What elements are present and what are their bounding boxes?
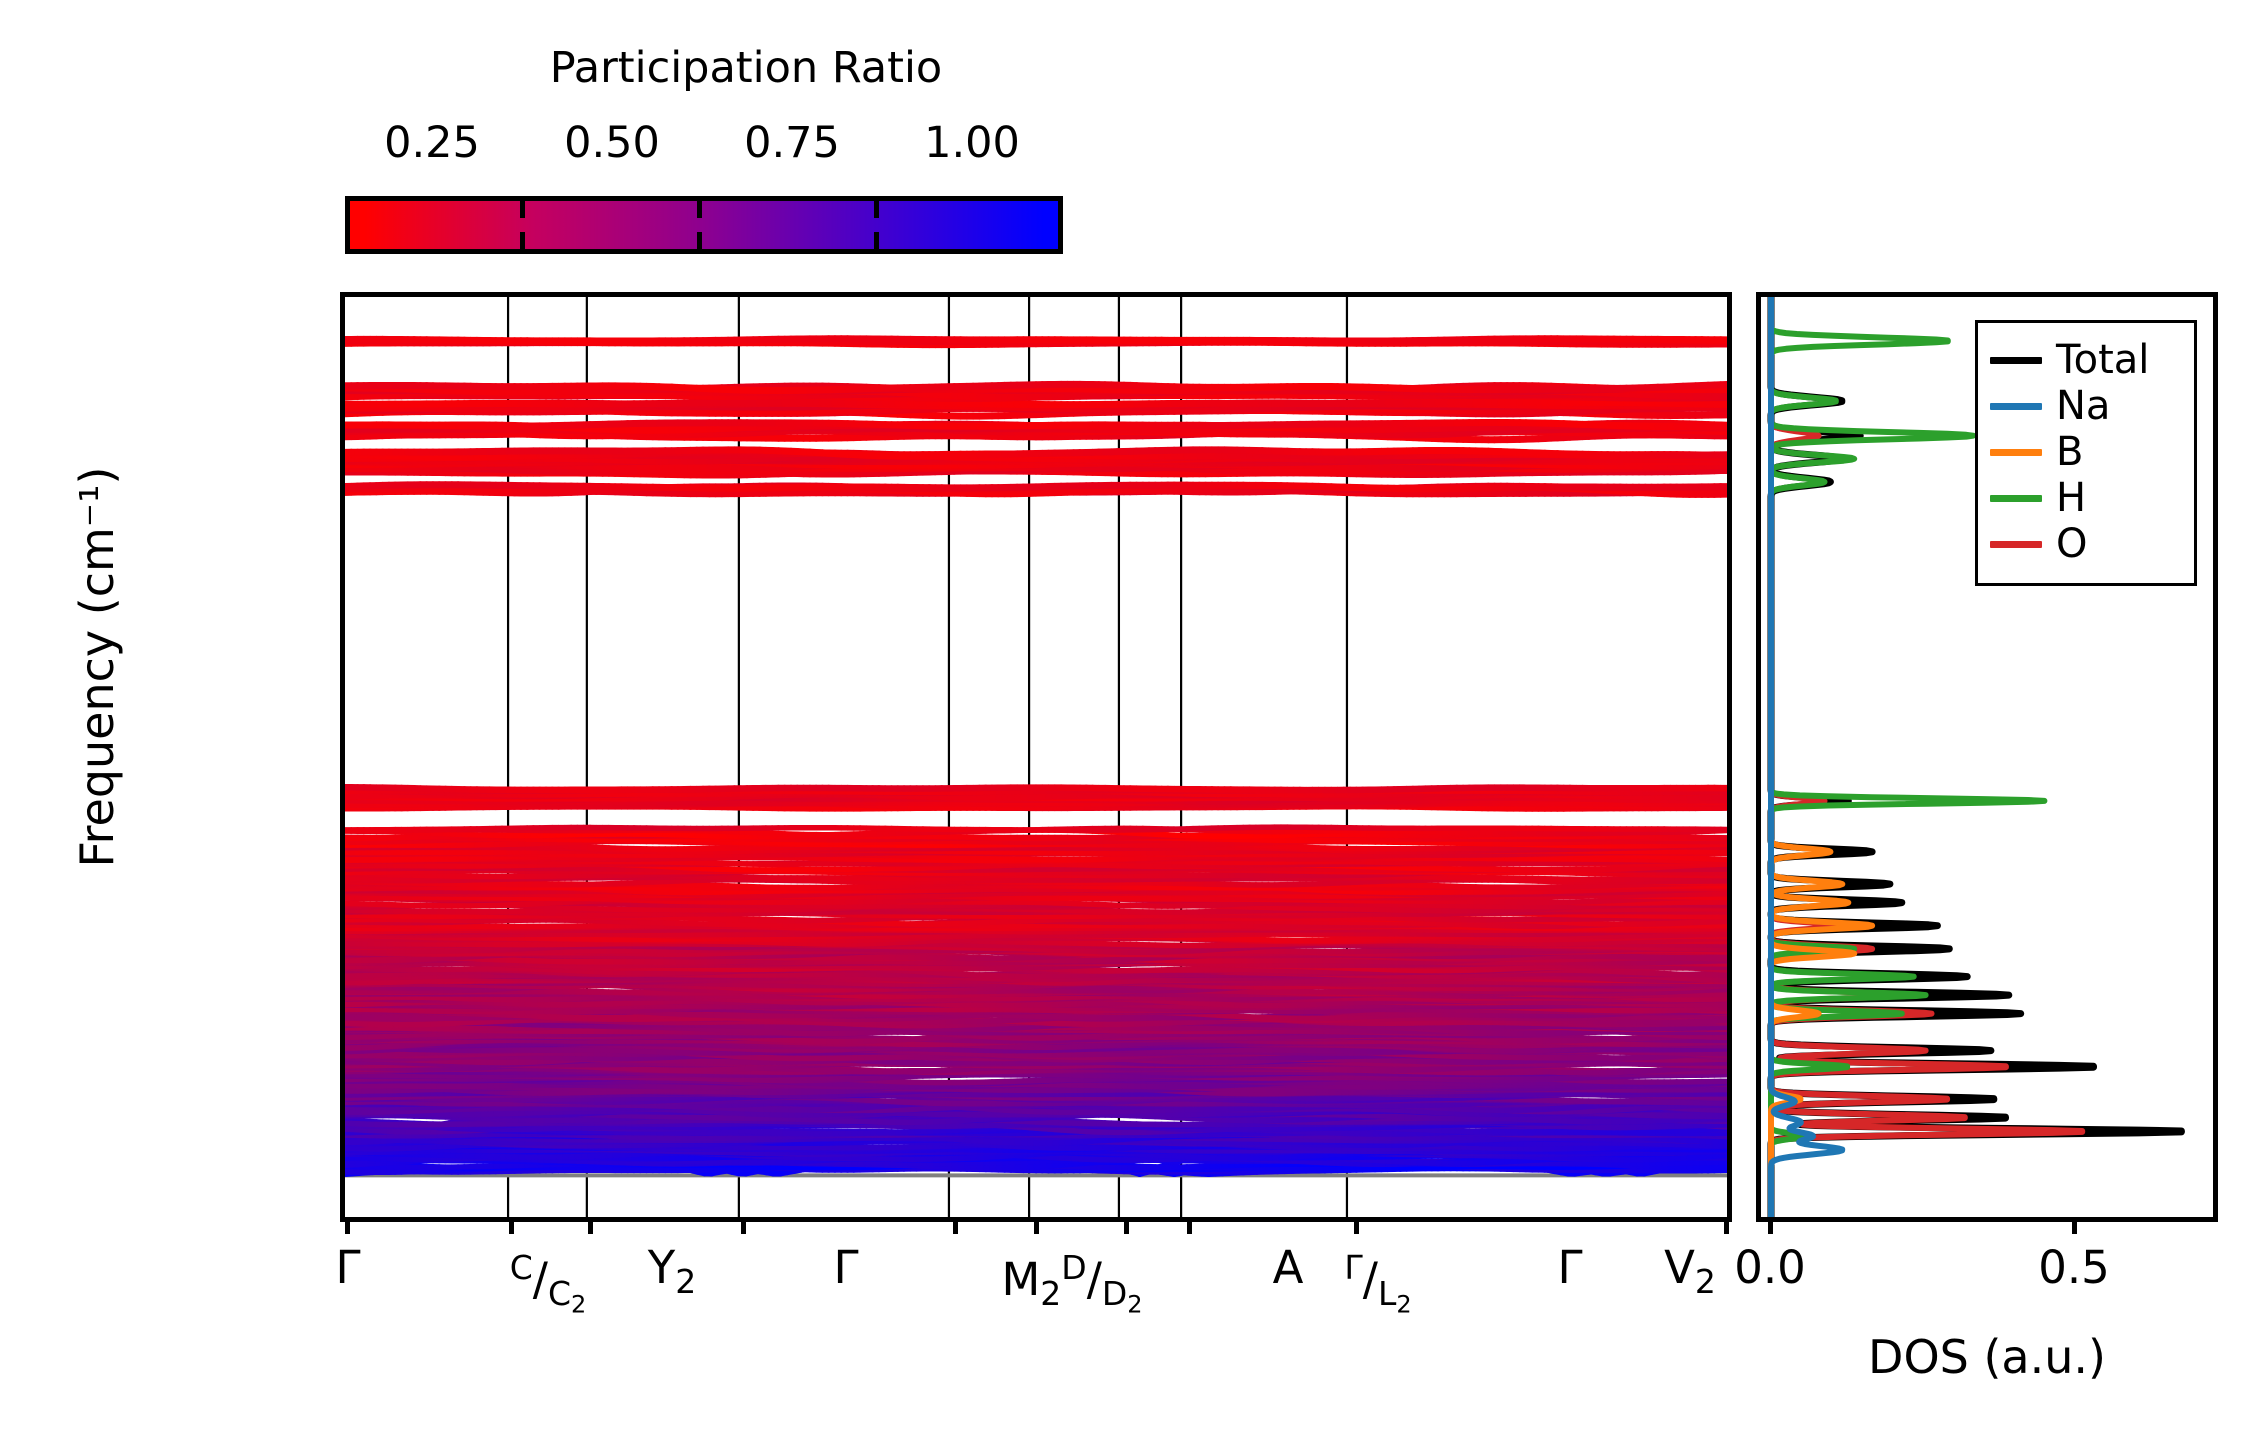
legend-swatch-na xyxy=(1990,403,2042,410)
legend-item-total[interactable]: Total xyxy=(1990,337,2182,383)
legend-label-total: Total xyxy=(2056,338,2149,382)
x-tick-label-gamma-over-l2: Γ/L2 xyxy=(1344,1243,1411,1330)
figure-canvas: Participation Ratio 0.25 0.50 0.75 1.00 … xyxy=(0,0,2259,1455)
x-tick-label-gamma-1: Γ xyxy=(335,1243,360,1293)
dos-x-tick-label-0: 0.0 xyxy=(1734,1243,1806,1293)
legend-label-o: O xyxy=(2056,522,2087,566)
x-tick-label-y2: Y2 xyxy=(648,1243,697,1307)
legend-item-h[interactable]: H xyxy=(1990,475,2182,521)
legend-swatch-total xyxy=(1990,357,2042,364)
legend-item-b[interactable]: B xyxy=(1990,429,2182,475)
legend-label-na: Na xyxy=(2056,384,2110,428)
legend-swatch-o xyxy=(1990,541,2042,548)
dos-x-axis-label: DOS (a.u.) xyxy=(1756,1330,2218,1384)
legend-item-na[interactable]: Na xyxy=(1990,383,2182,429)
legend-item-o[interactable]: O xyxy=(1990,521,2182,567)
legend-swatch-b xyxy=(1990,449,2042,456)
band-curves xyxy=(345,297,1727,1217)
x-tick-label-gamma-3: Γ xyxy=(1557,1243,1582,1293)
x-tick-label-a: A xyxy=(1273,1243,1304,1293)
x-tick-label-m2-d-over-d2: M2D/D2 xyxy=(1001,1243,1142,1330)
dos-x-tick-label-1: 0.5 xyxy=(2038,1243,2110,1293)
dos-legend[interactable]: Total Na B H O xyxy=(1975,320,2197,586)
phonon-band-structure-plot[interactable] xyxy=(340,292,1732,1222)
legend-label-h: H xyxy=(2056,476,2086,520)
legend-label-b: B xyxy=(2056,430,2083,474)
x-tick-label-c-over-c2: C/C2 xyxy=(510,1243,587,1330)
x-tick-label-gamma-2: Γ xyxy=(833,1243,858,1293)
x-tick-label-v2: V2 xyxy=(1664,1243,1716,1307)
legend-swatch-h xyxy=(1990,495,2042,502)
